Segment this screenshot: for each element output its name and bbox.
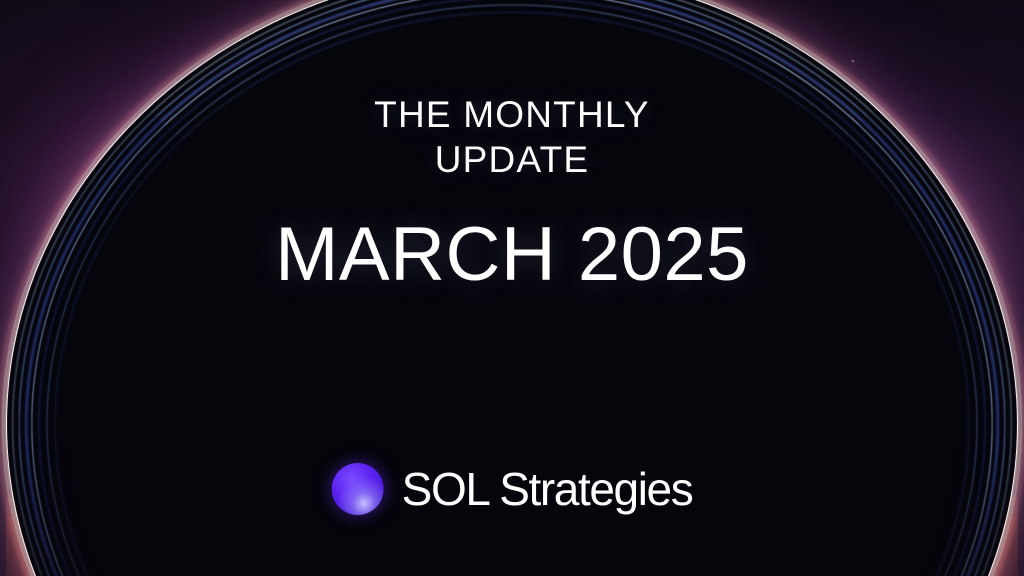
eyebrow-line-1: THE MONTHLY (374, 94, 650, 135)
brand-wordmark: SOL Strategies (402, 463, 693, 515)
sol-orb-icon (332, 463, 384, 515)
eyebrow-line-2: UPDATE (374, 137, 650, 182)
brand-logo: SOL Strategies (332, 463, 693, 515)
eyebrow-heading: THE MONTHLY UPDATE (374, 92, 650, 182)
page-title: MARCH 2025 (275, 214, 749, 296)
slide-canvas: THE MONTHLY UPDATE MARCH 2025 SOL Strate… (0, 0, 1024, 576)
